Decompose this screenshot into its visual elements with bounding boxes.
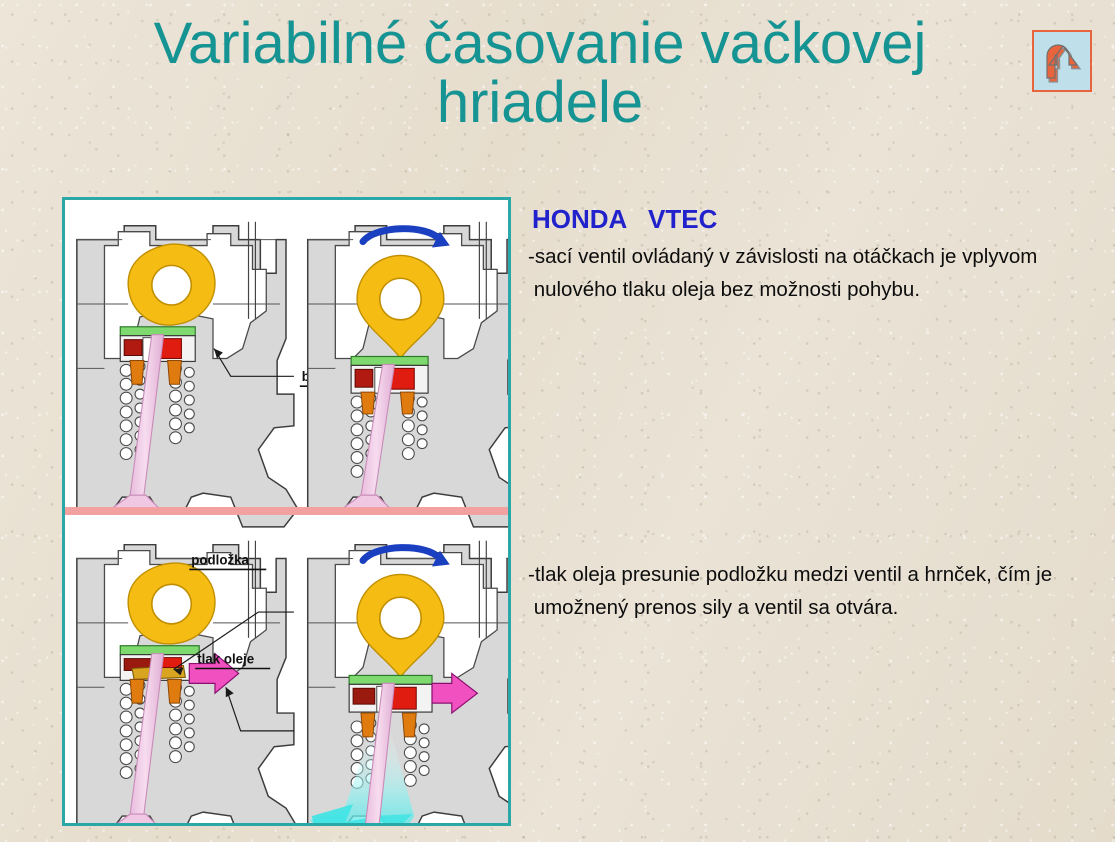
paragraph-1-line-2: nulového tlaku oleja bez možnosti pohybu… xyxy=(528,273,1108,306)
vtec-diagram: bez tlaku oleje xyxy=(65,200,508,823)
panel-bottom-right xyxy=(308,541,508,823)
paragraph-2-line-2: umožnený prenos sily a ventil sa otvára. xyxy=(528,591,1108,624)
paragraph-2-line-1: -tlak oleja presunie podložku medzi vent… xyxy=(528,558,1108,591)
vtec-diagram-frame: bez tlaku oleje xyxy=(62,197,511,826)
paragraph-1-line-1: -sací ventil ovládaný v závislosti na ot… xyxy=(528,240,1108,273)
page-title: Variabilné časovanie vačkovej hriadele xyxy=(70,14,1010,132)
label-shim: podložka xyxy=(191,552,249,567)
label-oil-pressure: tlak oleje xyxy=(197,652,254,667)
honda-vtec-heading: HONDA VTEC xyxy=(532,204,717,235)
panel-divider xyxy=(65,507,508,515)
paragraph-no-oil-pressure: -sací ventil ovládaný v závislosti na ot… xyxy=(528,240,1108,306)
u-turn-arrow-icon xyxy=(1034,32,1090,90)
return-u-turn-button[interactable] xyxy=(1032,30,1092,92)
slide-canvas: Variabilné časovanie vačkovej hriadele xyxy=(0,0,1115,842)
paragraph-oil-pressure: -tlak oleja presunie podložku medzi vent… xyxy=(528,558,1108,624)
panel-top-right xyxy=(308,222,508,527)
